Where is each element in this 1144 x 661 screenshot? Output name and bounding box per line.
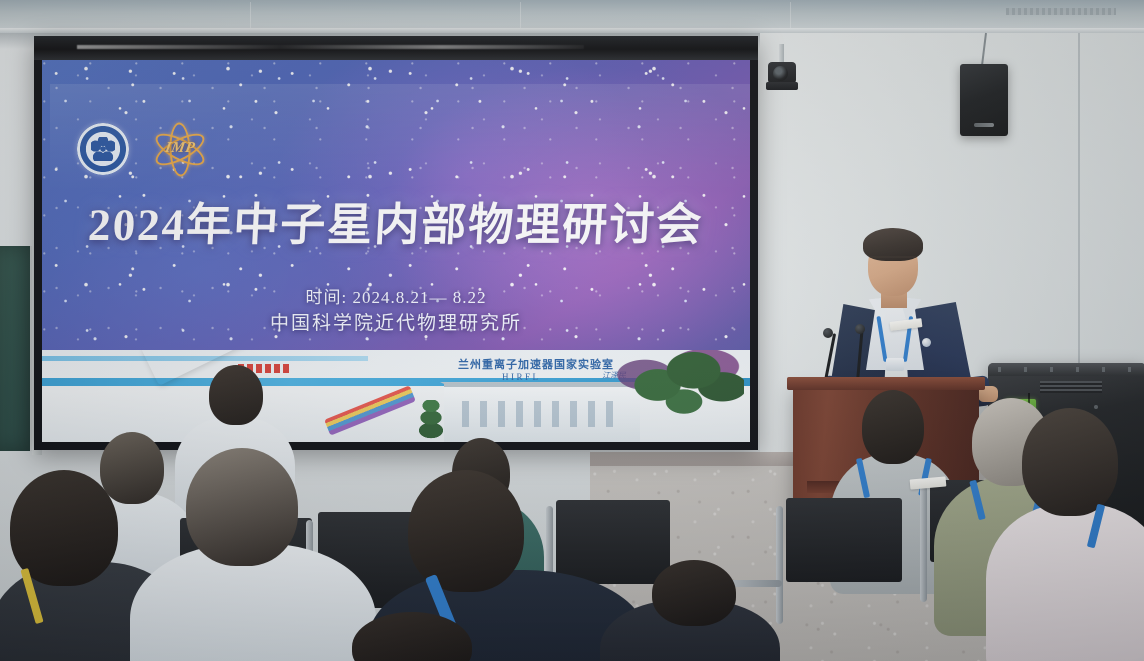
chair-back-panel xyxy=(786,498,902,582)
audience-member xyxy=(1000,408,1144,608)
audience-member xyxy=(138,448,368,661)
imp-logo-icon: IMP xyxy=(151,126,209,172)
projection-screen: IMP 2024年中子星内部物理研讨会 时间: 2024.8.21— 8.22 … xyxy=(34,36,758,450)
audience-member xyxy=(352,612,502,661)
tree-right xyxy=(624,350,744,442)
cas-logo-icon xyxy=(77,123,129,175)
screen-top-roller xyxy=(34,36,758,60)
lab-name-en: HIRFL xyxy=(502,372,541,382)
chair-frame xyxy=(920,486,927,602)
podium-top xyxy=(787,377,985,390)
slide-logos: IMP xyxy=(77,123,209,175)
rack-vent xyxy=(1040,381,1102,393)
imp-logo-label: IMP xyxy=(164,140,197,157)
accelerator-beam-graphic-small xyxy=(324,385,416,435)
wall-speaker-icon xyxy=(960,64,1008,136)
audience-head xyxy=(186,448,298,566)
microphone-head-icon xyxy=(823,328,833,338)
slide-organizer-line: 中国科学院近代物理研究所 xyxy=(42,308,750,335)
slide-title: 2024年中子星内部物理研讨会 xyxy=(42,188,750,253)
audience-head xyxy=(209,365,263,425)
slide-date-line: 时间: 2024.8.21— 8.22 xyxy=(42,283,750,308)
ceiling-vent xyxy=(1006,8,1116,15)
audience-head xyxy=(862,390,924,464)
slide-bottom-banner: 兰州重离子加速器国家实验室 HIRFL 江泽民 xyxy=(42,350,750,442)
microphone-head-icon xyxy=(855,324,865,334)
audience-member xyxy=(600,560,780,661)
audience-head xyxy=(652,560,736,626)
audience-head xyxy=(1022,408,1118,516)
presentation-slide: IMP 2024年中子星内部物理研讨会 时间: 2024.8.21— 8.22 … xyxy=(42,60,750,442)
conference-photo: IMP 2024年中子星内部物理研讨会 时间: 2024.8.21— 8.22 … xyxy=(0,0,1144,661)
audience-head xyxy=(408,470,524,592)
camera-mount-rod xyxy=(779,44,784,64)
ceiling-seam xyxy=(790,2,791,28)
lab-name-cn: 兰州重离子加速器国家实验室 xyxy=(458,356,614,372)
ceiling-seam xyxy=(250,2,251,28)
tree-small xyxy=(414,400,448,440)
presenter-lapel-pin xyxy=(922,338,931,347)
presenter-face-line xyxy=(870,256,916,258)
ceiling-camera-icon xyxy=(766,44,798,90)
presenter-badge xyxy=(886,358,904,371)
audience-head xyxy=(352,612,472,661)
rack-bolts xyxy=(998,367,1136,372)
camera-arm xyxy=(766,82,798,90)
blackboard xyxy=(0,246,34,451)
ceiling-seam xyxy=(520,2,521,28)
camera-lens-icon xyxy=(773,66,788,81)
audience-body xyxy=(986,504,1144,661)
ceiling xyxy=(0,0,1144,30)
